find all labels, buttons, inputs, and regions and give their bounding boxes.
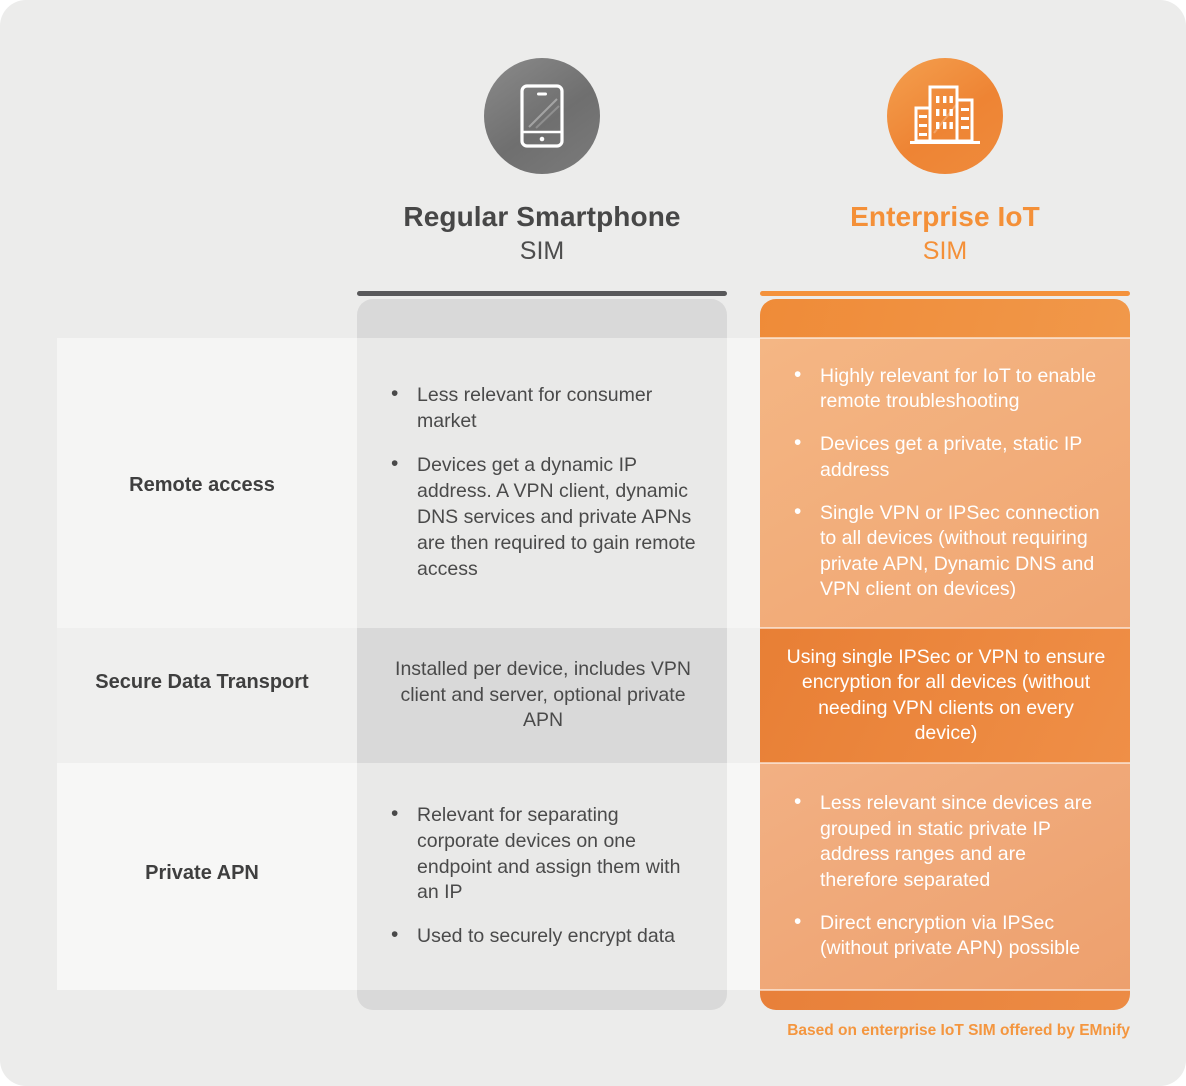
list-item: Single VPN or IPSec connection to all de… (786, 501, 1106, 602)
header-underline (760, 291, 1130, 296)
cell-right-secure-data-transport: Using single IPSec or VPN to ensure encr… (760, 628, 1130, 763)
bullet-list: Less relevant for consumer market Device… (383, 383, 703, 582)
column-title: Enterprise IoT (760, 200, 1130, 233)
list-item: Devices get a private, static IP address (786, 432, 1106, 483)
list-item: Less relevant for consumer market (383, 383, 703, 435)
right-card-top-cap (760, 299, 1130, 338)
cell-right-remote-access: Highly relevant for IoT to enable remote… (760, 338, 1130, 628)
column-card-enterprise-iot-sim: Highly relevant for IoT to enable remote… (760, 299, 1130, 1010)
list-item: Direct encryption via IPSec (without pri… (786, 911, 1106, 962)
column-subtitle: SIM (357, 235, 727, 269)
list-item: Devices get a dynamic IP address. A VPN … (383, 453, 703, 583)
cell-text: Using single IPSec or VPN to ensure encr… (786, 645, 1106, 746)
enterprise-building-icon (887, 58, 1003, 174)
cell-right-private-apn: Less relevant since devices are grouped … (760, 763, 1130, 990)
cell-divider (760, 762, 1130, 764)
row-label-secure-data-transport: Secure Data Transport (57, 668, 347, 697)
list-item: Used to securely encrypt data (383, 924, 703, 950)
cell-divider (760, 989, 1130, 991)
bullet-list: Less relevant since devices are grouped … (786, 791, 1106, 961)
comparison-infographic: Less relevant for consumer market Device… (0, 0, 1186, 1086)
row-label-private-apn: Private APN (57, 859, 347, 888)
column-card-regular-smartphone-sim: Less relevant for consumer market Device… (357, 299, 727, 1010)
left-card-bottom-cap (357, 990, 727, 1010)
cell-divider (760, 627, 1130, 629)
source-attribution: Based on enterprise IoT SIM offered by E… (760, 1022, 1130, 1040)
cell-left-private-apn: Relevant for separating corporate device… (357, 763, 727, 990)
list-item: Highly relevant for IoT to enable remote… (786, 364, 1106, 415)
column-title: Regular Smartphone (357, 200, 727, 233)
header-underline (357, 291, 727, 296)
bullet-list: Highly relevant for IoT to enable remote… (786, 364, 1106, 603)
bullet-list: Relevant for separating corporate device… (383, 803, 703, 951)
smartphone-icon (484, 58, 600, 174)
cell-divider (760, 337, 1130, 339)
column-subtitle: SIM (760, 235, 1130, 269)
list-item: Less relevant since devices are grouped … (786, 791, 1106, 892)
right-card-bottom-cap (760, 990, 1130, 1010)
left-card-top-cap (357, 299, 727, 338)
cell-left-remote-access: Less relevant for consumer market Device… (357, 338, 727, 628)
list-item: Relevant for separating corporate device… (383, 803, 703, 907)
row-label-remote-access: Remote access (57, 471, 347, 500)
header-enterprise-iot: Enterprise IoT SIM (760, 58, 1130, 296)
header-regular-smartphone: Regular Smartphone SIM (357, 58, 727, 296)
cell-text: Installed per device, includes VPN clien… (383, 657, 703, 735)
cell-left-secure-data-transport: Installed per device, includes VPN clien… (357, 628, 727, 763)
